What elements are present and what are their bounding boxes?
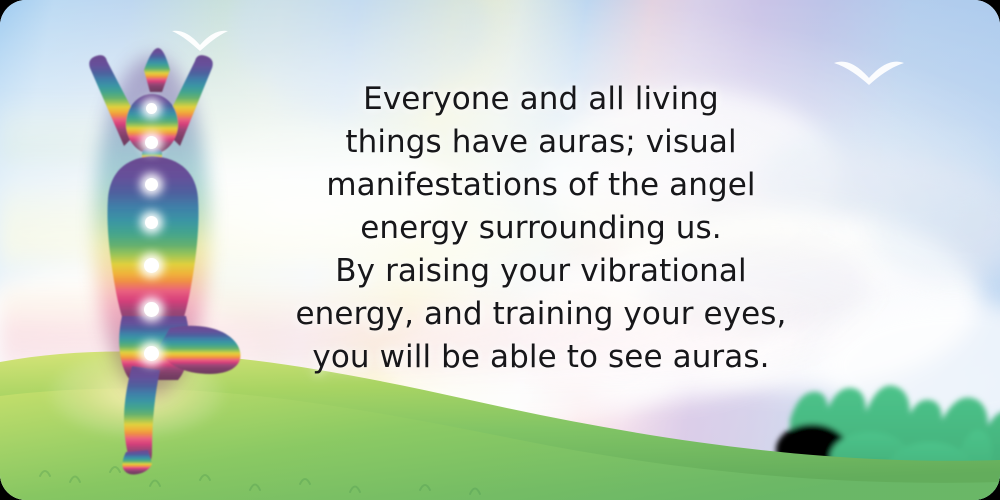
figure-body: [89, 48, 240, 475]
quote-line-5: By raising your vibrational: [268, 250, 814, 293]
chakra-point-third-eye: [145, 136, 158, 149]
chakra-point-throat: [145, 178, 158, 191]
quote-line-2: things have auras; visual: [268, 121, 814, 164]
chakra-point-root: [144, 346, 159, 361]
seagull-icon-right: [832, 54, 906, 94]
quote-text-block: Everyone and all living things have aura…: [268, 78, 814, 379]
figure-svg: [66, 16, 246, 476]
quote-line-1: Everyone and all living: [268, 78, 814, 121]
quote-card: Everyone and all living things have aura…: [0, 0, 1000, 500]
quote-line-4: energy surrounding us.: [268, 207, 814, 250]
quote-line-6: energy, and training your eyes,: [268, 293, 814, 336]
chakra-point-crown: [146, 103, 157, 114]
seagull-icon-left: [170, 24, 230, 60]
quote-line-3: manifestations of the angel: [268, 164, 814, 207]
chakra-point-solar-plexus: [144, 258, 159, 273]
quote-line-7: you will be able to see auras.: [268, 336, 814, 379]
chakra-point-heart: [145, 216, 158, 229]
chakra-point-sacral: [144, 302, 159, 317]
yoga-tree-pose-figure: [66, 16, 246, 476]
